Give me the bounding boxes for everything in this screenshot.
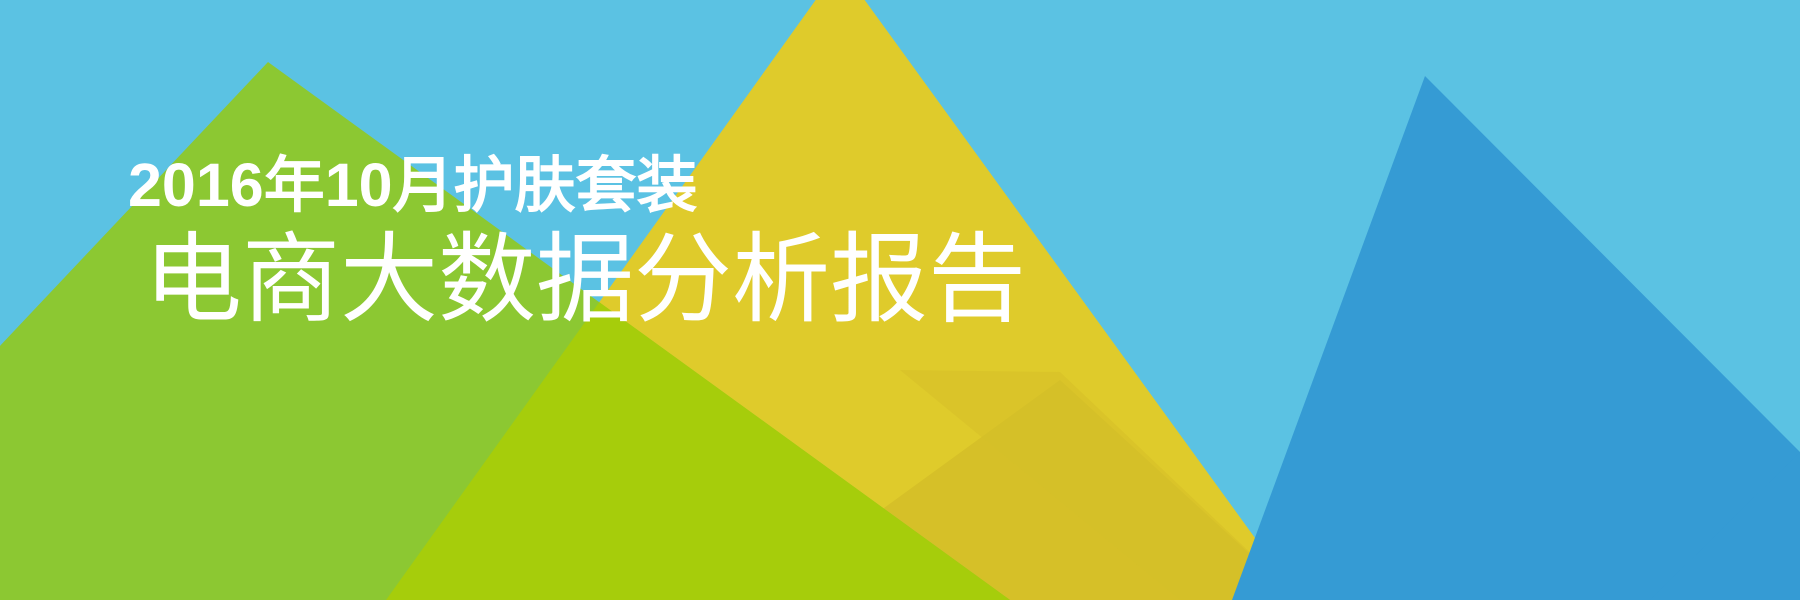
report-cover-banner: 2016年10月护肤套装 电商大数据分析报告 bbox=[0, 0, 1800, 600]
background-geometry bbox=[0, 0, 1800, 600]
